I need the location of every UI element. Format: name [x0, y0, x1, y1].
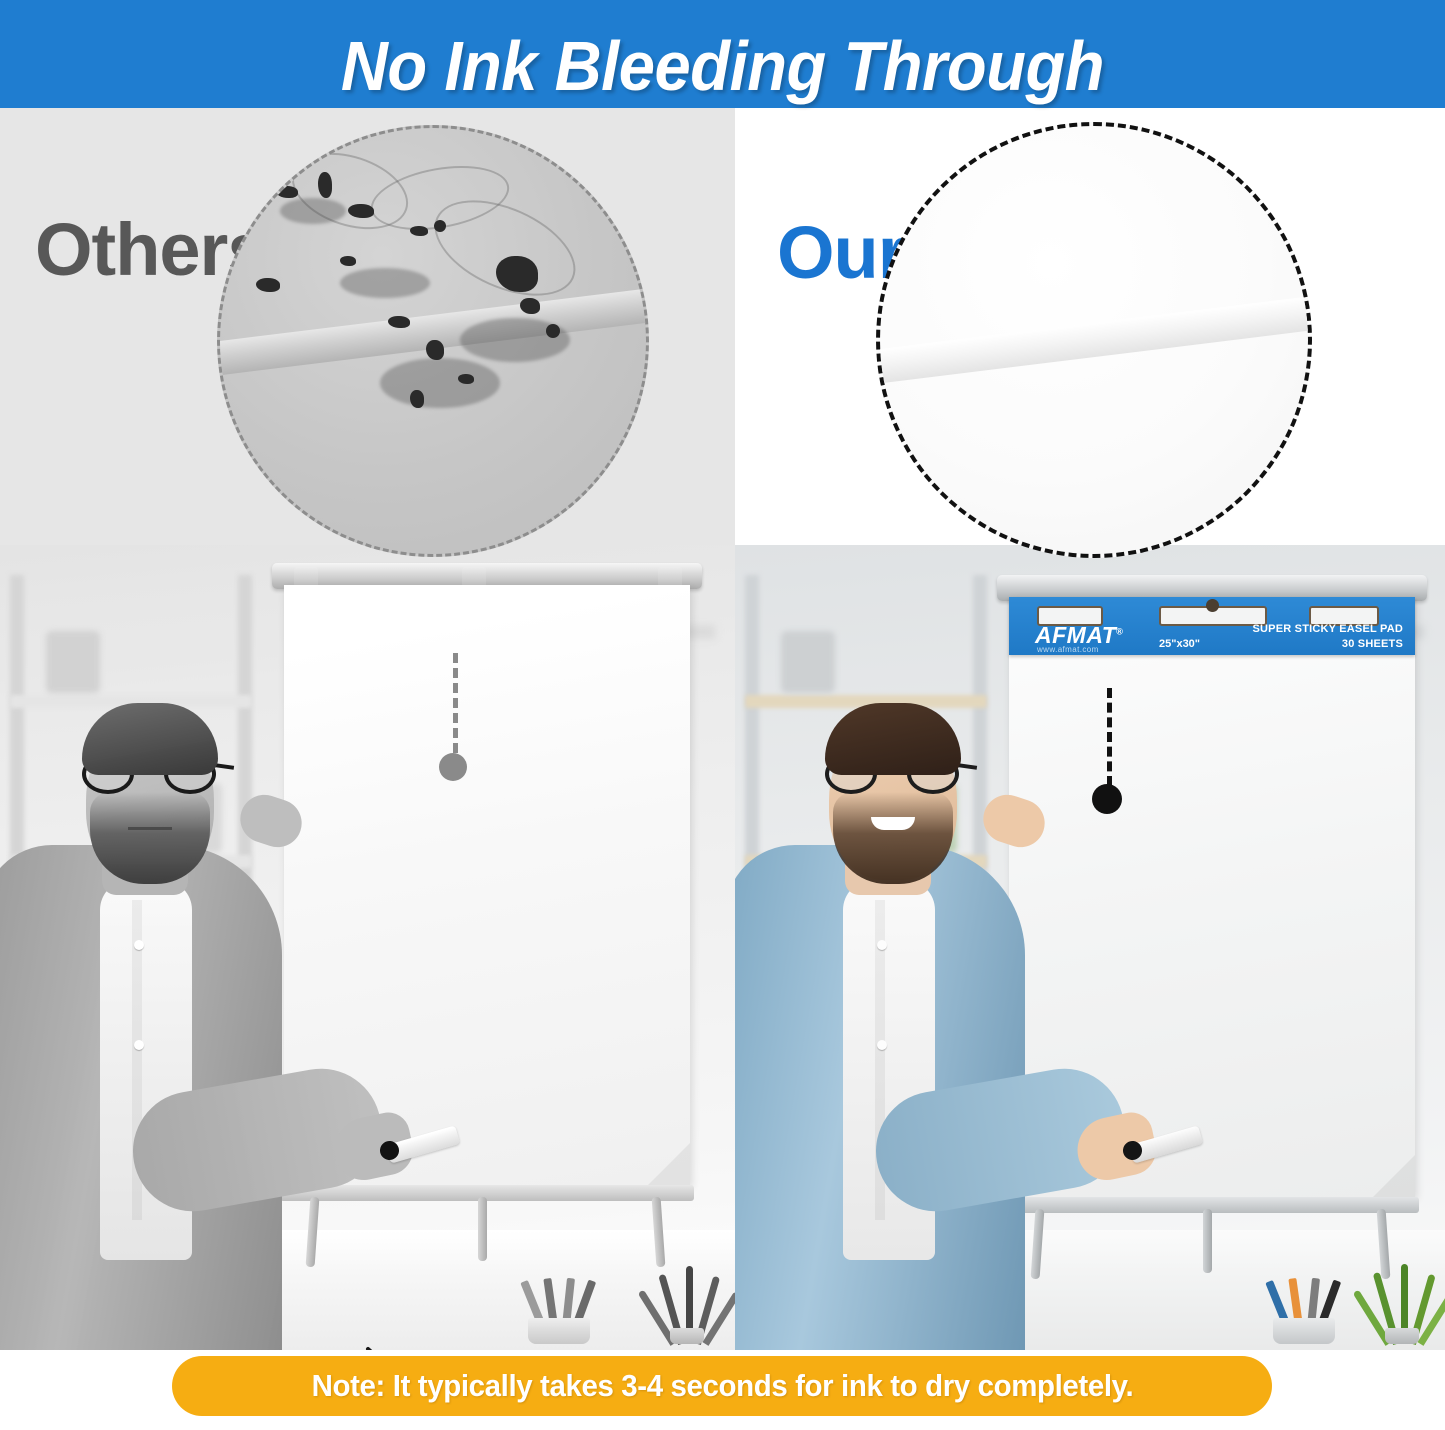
note-banner-wrap: Note: It typically takes 3-4 seconds for…	[0, 1350, 1445, 1430]
beard	[90, 792, 210, 884]
registered-mark: ®	[1116, 626, 1123, 636]
product-size: 25"x30"	[1159, 638, 1200, 650]
photo-ours: AFMAT® www.afmat.com SUPER STICKY EASEL …	[735, 545, 1445, 1350]
beard	[833, 792, 953, 884]
magnifier-ours	[876, 122, 1312, 558]
easel-leg	[652, 1197, 666, 1267]
hang-hole	[1206, 599, 1219, 612]
mouth	[871, 817, 915, 830]
easel-tray	[1005, 1197, 1419, 1213]
note-banner: Note: It typically takes 3-4 seconds for…	[172, 1356, 1272, 1416]
hair	[825, 703, 961, 775]
product-comparison-infographic: No Ink Bleeding Through Others	[0, 0, 1445, 1430]
mouth	[128, 822, 172, 830]
pointer-line	[453, 653, 458, 753]
magnifier-others	[217, 125, 649, 557]
easel-leg	[478, 1197, 487, 1261]
note-text: Note: It typically takes 3-4 seconds for…	[311, 1368, 1133, 1404]
hair	[82, 703, 218, 775]
pointer-dot	[439, 753, 467, 781]
easel-tray	[280, 1185, 694, 1201]
doodle-money-storm: $ $	[320, 1335, 650, 1350]
potted-plant	[640, 1264, 732, 1344]
easel-leg	[1203, 1209, 1212, 1273]
person-ours	[735, 590, 1065, 1350]
paper-curl	[876, 294, 1312, 386]
pencil-cup	[1265, 1286, 1343, 1344]
pointer-line	[1107, 688, 1112, 786]
sheet-count: 30 SHEETS	[1342, 638, 1403, 650]
magnifier-pointer-others	[438, 653, 468, 788]
hand-on-board	[234, 789, 308, 854]
person-others	[0, 590, 312, 1350]
hand-on-board	[977, 789, 1051, 854]
potted-plant	[1355, 1264, 1445, 1344]
afmat-product-header: AFMAT® www.afmat.com SUPER STICKY EASEL …	[1009, 597, 1415, 655]
product-name: SUPER STICKY EASEL PAD	[1253, 623, 1404, 635]
photo-others: $ $	[0, 545, 735, 1350]
magnifier-pointer-ours	[1092, 688, 1122, 823]
page-title: No Ink Bleeding Through	[51, 26, 1395, 106]
pointer-dot	[1092, 784, 1122, 814]
